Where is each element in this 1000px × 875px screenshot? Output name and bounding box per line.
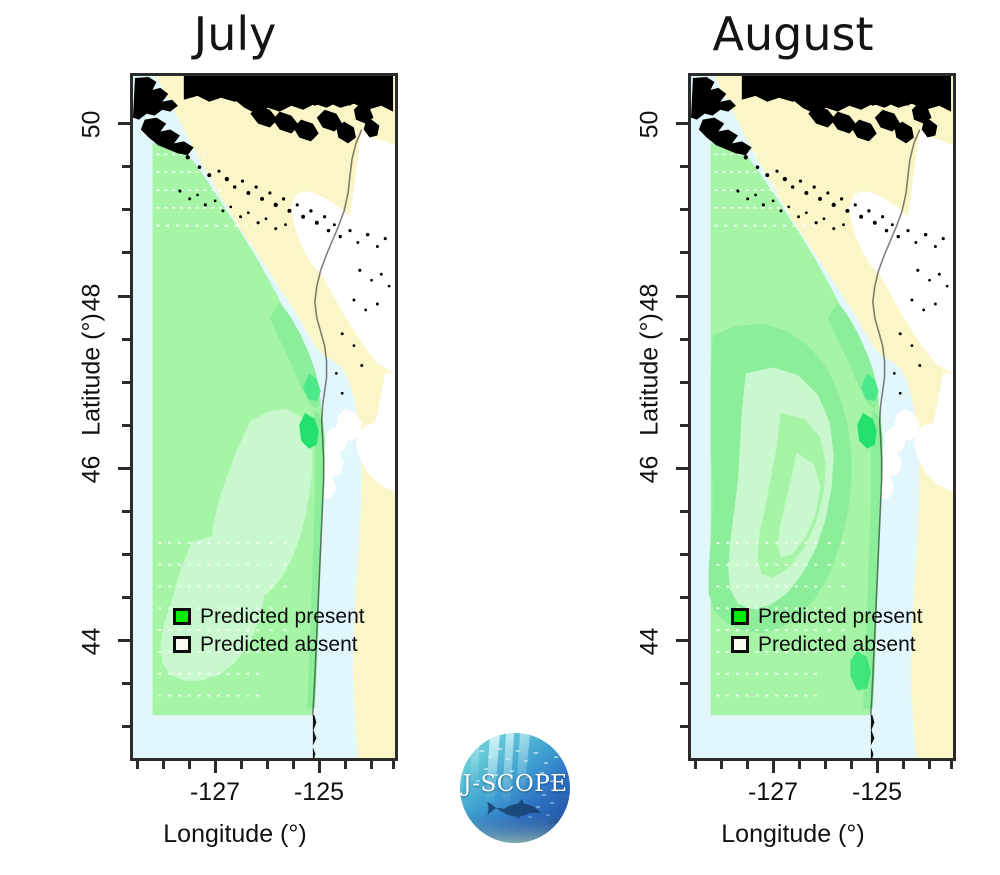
x-tick-major bbox=[876, 761, 879, 773]
x-tick-minor bbox=[188, 761, 191, 769]
panel-title-july: July bbox=[0, 6, 470, 62]
map-legend-august: Predicted present Predicted absent bbox=[731, 603, 956, 659]
x-tick-minor bbox=[746, 761, 749, 769]
x-tick-label: -125 bbox=[832, 778, 922, 807]
y-tick-minor bbox=[122, 251, 130, 254]
y-tick-minor bbox=[680, 596, 688, 599]
y-tick-minor bbox=[122, 424, 130, 427]
x-tick-minor bbox=[850, 761, 853, 769]
legend-label-present: Predicted present bbox=[758, 606, 923, 627]
y-tick-minor bbox=[122, 381, 130, 384]
y-tick-minor bbox=[122, 553, 130, 556]
x-tick-label: -125 bbox=[274, 778, 364, 807]
x-tick-minor bbox=[928, 761, 931, 769]
y-tick-major bbox=[676, 122, 688, 125]
legend-label-absent: Predicted absent bbox=[758, 634, 916, 655]
y-axis-title-august: Latitude (°) bbox=[636, 275, 665, 475]
legend-swatch-present bbox=[731, 608, 749, 625]
legend-row-present: Predicted present bbox=[731, 603, 956, 629]
panel-july: July bbox=[0, 0, 470, 875]
x-tick-label: -127 bbox=[170, 778, 260, 807]
y-tick-major bbox=[118, 639, 130, 642]
y-tick-minor bbox=[122, 682, 130, 685]
y-tick-minor bbox=[122, 725, 130, 728]
y-tick-minor bbox=[680, 251, 688, 254]
y-tick-minor bbox=[680, 424, 688, 427]
x-tick-minor bbox=[720, 761, 723, 769]
y-tick-minor bbox=[122, 165, 130, 168]
y-tick-minor bbox=[122, 338, 130, 341]
y-tick-label: 44 bbox=[636, 622, 665, 662]
y-tick-minor bbox=[680, 725, 688, 728]
x-tick-minor bbox=[370, 761, 373, 769]
y-tick-minor bbox=[680, 381, 688, 384]
x-tick-major bbox=[318, 761, 321, 773]
map-legend-july: Predicted present Predicted absent bbox=[173, 603, 398, 659]
panel-august: August bbox=[558, 0, 1000, 875]
x-axis-title-july: Longitude (°) bbox=[0, 820, 470, 849]
x-tick-minor bbox=[136, 761, 139, 769]
map-plot-august[interactable]: Predicted present Predicted absent bbox=[688, 73, 956, 761]
legend-label-absent: Predicted absent bbox=[200, 634, 358, 655]
y-axis-title-july: Latitude (°) bbox=[78, 275, 107, 475]
y-tick-major bbox=[676, 295, 688, 298]
y-tick-label: 50 bbox=[78, 105, 107, 145]
y-tick-minor bbox=[680, 682, 688, 685]
y-tick-major bbox=[676, 639, 688, 642]
x-tick-minor bbox=[824, 761, 827, 769]
x-tick-minor bbox=[798, 761, 801, 769]
y-tick-minor bbox=[122, 596, 130, 599]
legend-swatch-present bbox=[173, 608, 191, 625]
panel-title-august: August bbox=[558, 6, 1000, 62]
y-tick-minor bbox=[122, 510, 130, 513]
y-tick-minor bbox=[680, 553, 688, 556]
map-plot-july[interactable]: Predicted present Predicted absent bbox=[130, 73, 398, 761]
x-tick-minor bbox=[162, 761, 165, 769]
x-tick-minor bbox=[392, 761, 395, 769]
x-tick-minor bbox=[292, 761, 295, 769]
legend-swatch-absent bbox=[173, 636, 191, 653]
x-tick-major bbox=[214, 761, 217, 773]
y-tick-major bbox=[118, 295, 130, 298]
x-tick-minor bbox=[950, 761, 953, 769]
y-tick-major bbox=[118, 467, 130, 470]
legend-row-absent: Predicted absent bbox=[173, 631, 398, 657]
y-tick-minor bbox=[680, 208, 688, 211]
legend-swatch-absent bbox=[731, 636, 749, 653]
y-tick-major bbox=[676, 467, 688, 470]
x-tick-label: -127 bbox=[728, 778, 818, 807]
y-tick-minor bbox=[680, 165, 688, 168]
y-tick-label: 50 bbox=[636, 105, 665, 145]
x-tick-minor bbox=[344, 761, 347, 769]
x-tick-minor bbox=[694, 761, 697, 769]
jscope-logo-text: J-SCOPE bbox=[460, 771, 570, 797]
x-axis-title-august: Longitude (°) bbox=[558, 820, 1000, 849]
legend-row-absent: Predicted absent bbox=[731, 631, 956, 657]
jscope-logo: J-SCOPE bbox=[460, 733, 570, 843]
y-tick-minor bbox=[122, 208, 130, 211]
y-tick-label: 44 bbox=[78, 622, 107, 662]
y-tick-minor bbox=[680, 338, 688, 341]
legend-label-present: Predicted present bbox=[200, 606, 365, 627]
legend-row-present: Predicted present bbox=[173, 603, 398, 629]
x-tick-minor bbox=[240, 761, 243, 769]
y-tick-minor bbox=[680, 510, 688, 513]
x-tick-minor bbox=[266, 761, 269, 769]
x-tick-major bbox=[772, 761, 775, 773]
x-tick-minor bbox=[902, 761, 905, 769]
y-tick-major bbox=[118, 122, 130, 125]
